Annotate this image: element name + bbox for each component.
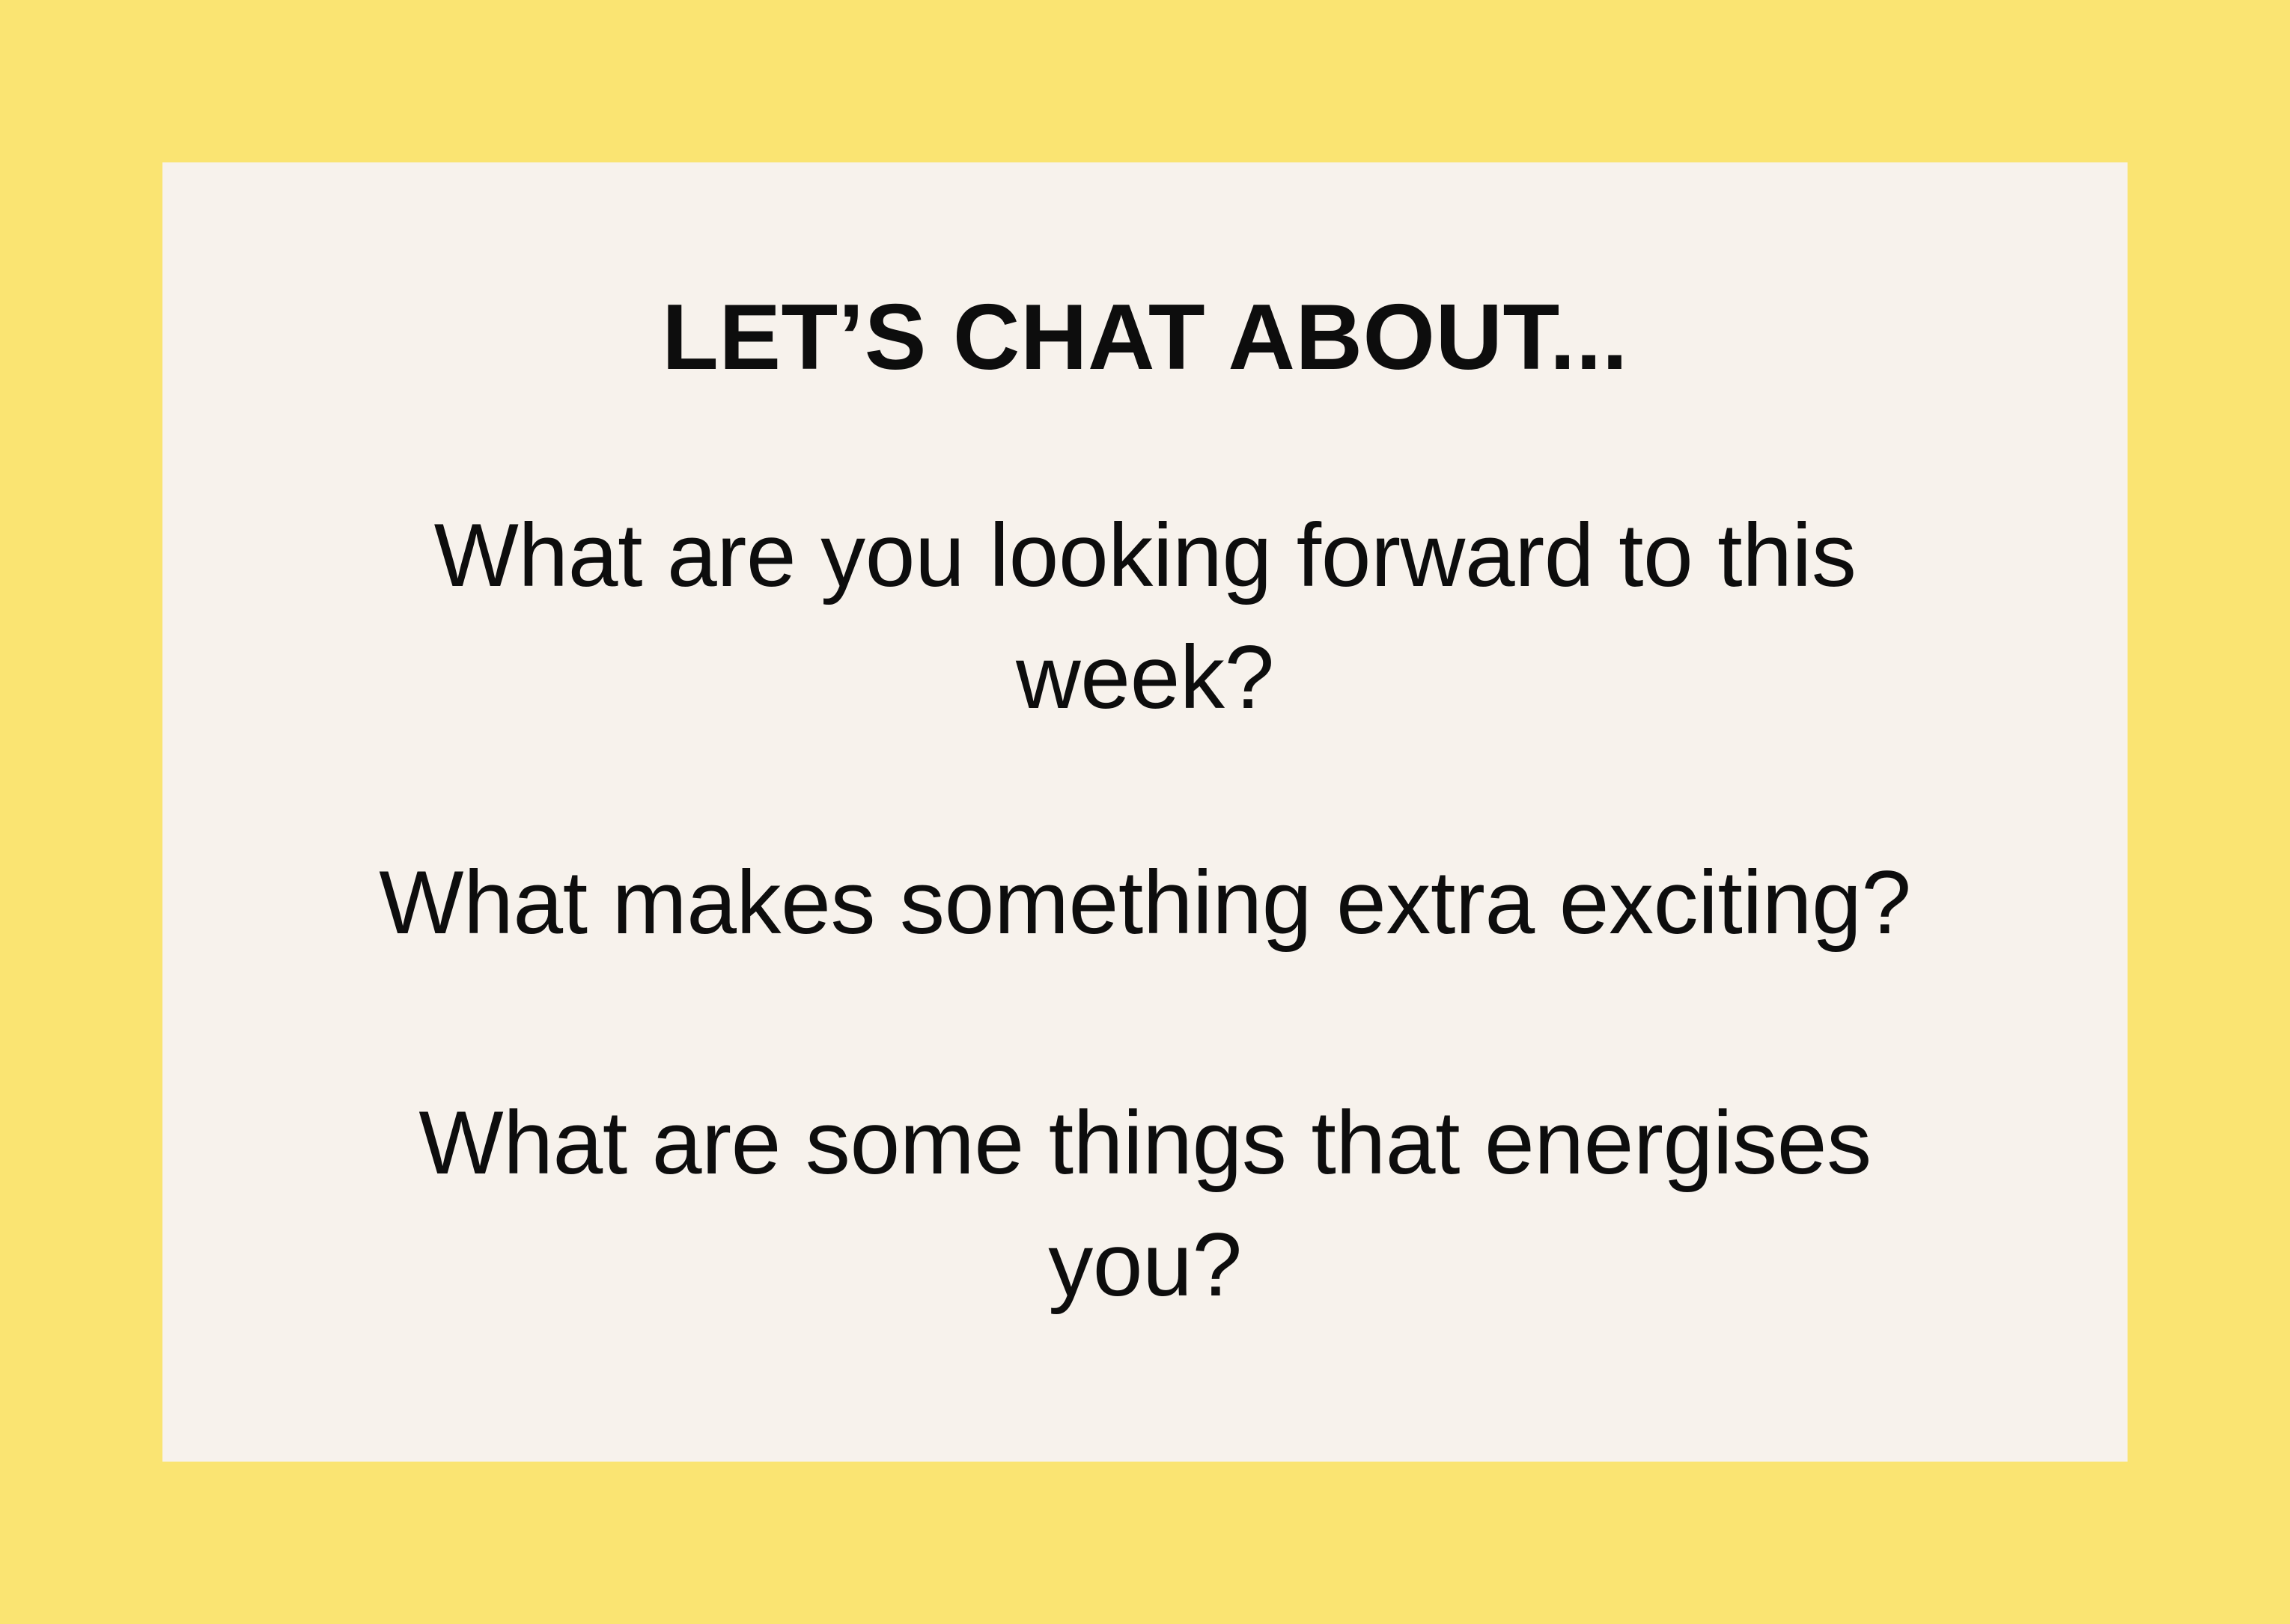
poster-canvas: LET’S CHAT ABOUT... What are you looking… <box>0 0 2290 1624</box>
page-title: LET’S CHAT ABOUT... <box>162 162 2128 384</box>
list-item: What are some things that energises you? <box>348 1082 1943 1326</box>
list-item: What are you looking forward to this wee… <box>348 495 1943 739</box>
list-item: What makes something extra exciting? <box>348 842 1943 964</box>
question-list: What are you looking forward to this wee… <box>348 384 1943 1326</box>
prompt-card: LET’S CHAT ABOUT... What are you looking… <box>162 162 2128 1462</box>
